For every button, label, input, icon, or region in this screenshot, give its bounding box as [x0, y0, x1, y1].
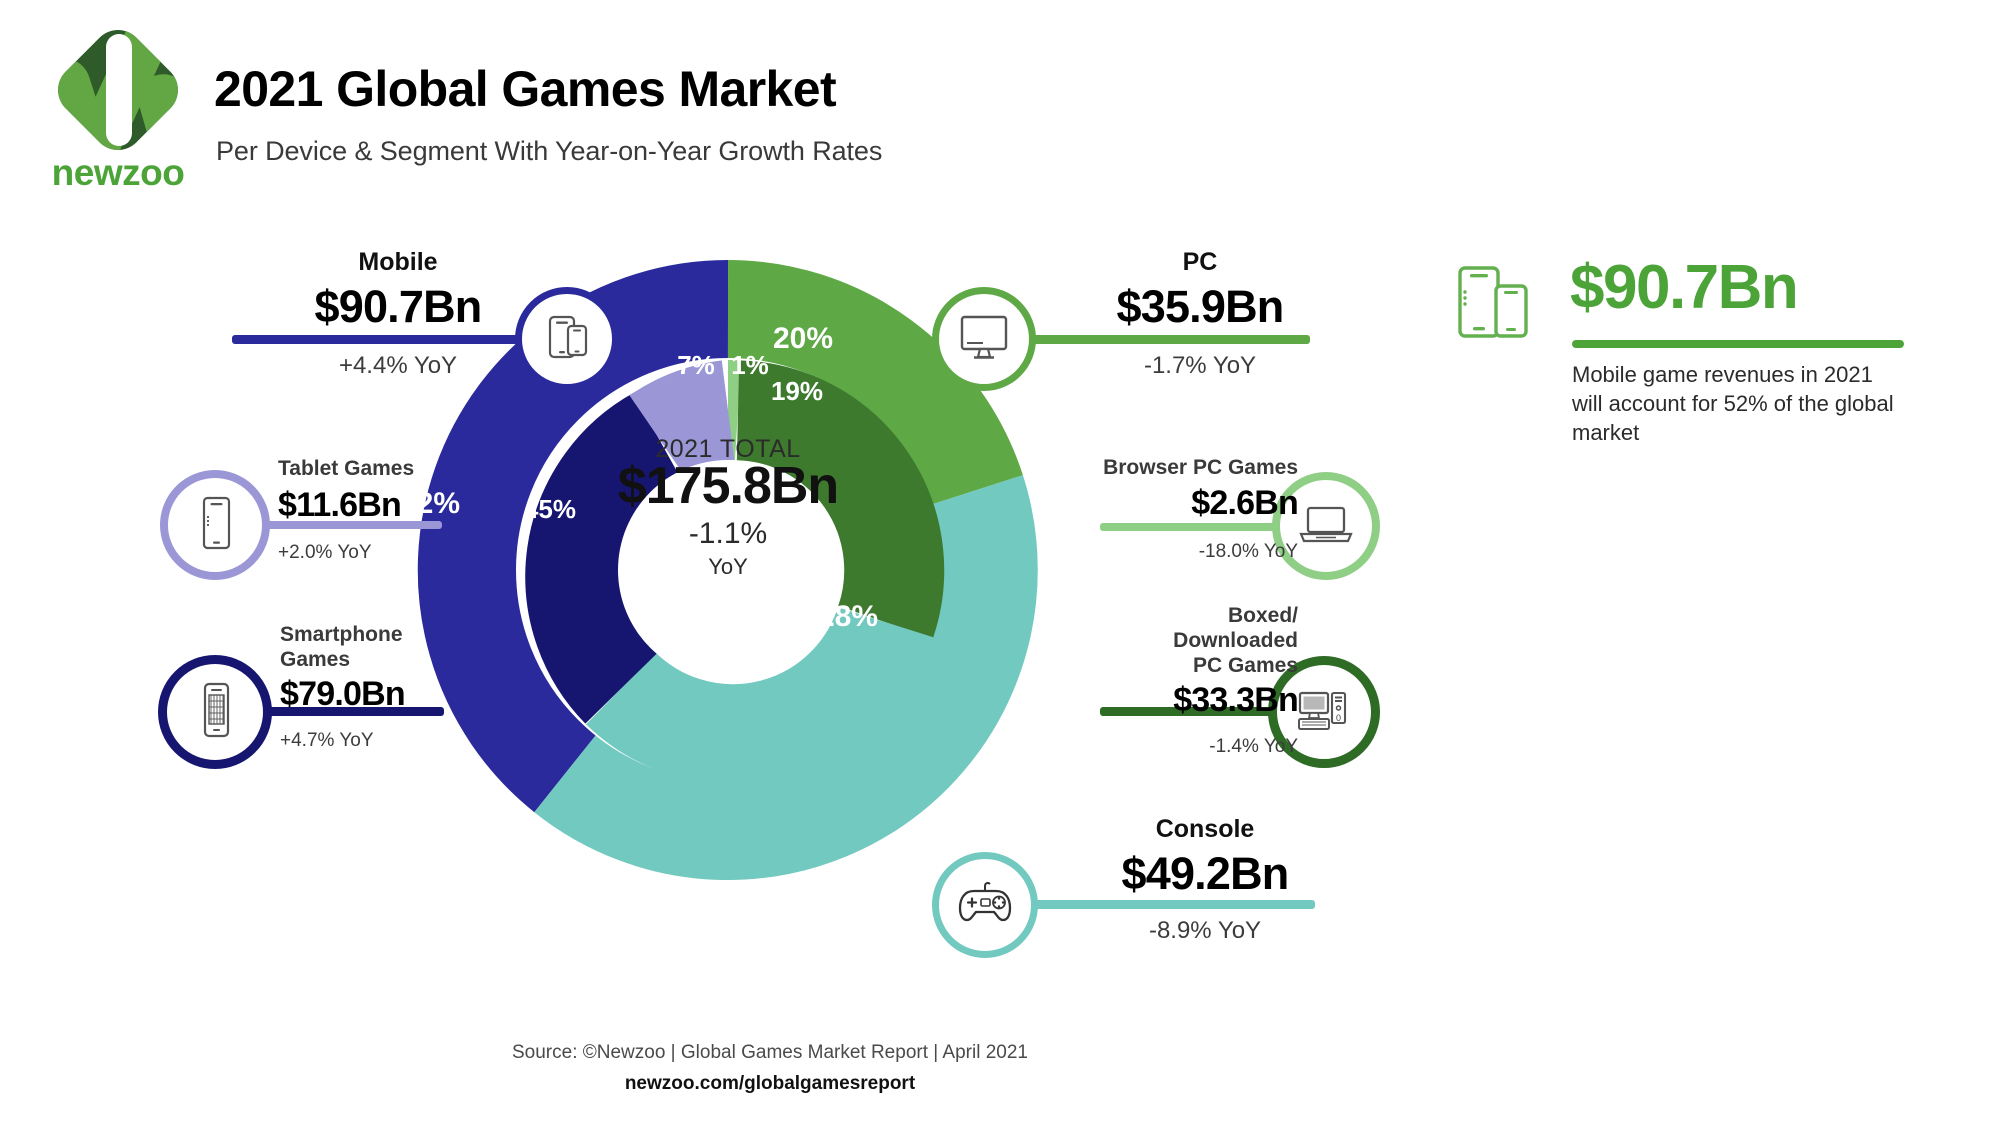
footer-source: Source: ©Newzoo | Global Games Market Re… [0, 1042, 1540, 1064]
callout-console-yoy: -8.9% YoY [1065, 917, 1345, 945]
callout-pc-yoy-wrap: -1.7% YoY [1055, 352, 1345, 380]
callout-smartphone-yoy: +4.7% YoY [280, 730, 520, 752]
callout-pc-title: PC [1055, 248, 1345, 277]
callout-smartphone: Smartphone Games $79.0Bn +4.7% YoY [280, 623, 520, 752]
phone-tablet-icon [539, 309, 595, 370]
tablet-bubble [160, 470, 270, 580]
gamepad-icon [954, 877, 1016, 934]
callout-boxed-value: $33.3Bn [1090, 681, 1298, 720]
center-yoy-suffix: YoY [708, 554, 748, 579]
highlight-rule [1572, 340, 1904, 348]
callout-mobile-title: Mobile [258, 248, 538, 277]
callout-browser-title: Browser PC Games [1098, 456, 1298, 481]
callout-browser-yoy: -18.0% YoY [1098, 541, 1298, 563]
callout-console-value: $49.2Bn [1065, 848, 1345, 900]
smartphone-icon [192, 680, 238, 745]
inner-label-tablet: 7% [677, 350, 715, 380]
callout-mobile-yoy: +4.4% YoY [258, 352, 538, 380]
brand-wordmark: newzoo [48, 154, 188, 191]
inner-label-boxed: 19% [771, 376, 823, 406]
infographic-root: newzoo 2021 Global Games Market Per Devi… [0, 0, 2000, 1124]
pc-bubble [932, 287, 1036, 391]
smartphone-bubble [158, 655, 272, 769]
desktop-monitor-icon [954, 310, 1014, 369]
connector-console [1035, 900, 1315, 909]
inner-label-browser: 1% [731, 350, 769, 380]
center-yoy: -1.1% [689, 517, 767, 550]
callout-tablet: Tablet Games $11.6Bn +2.0% YoY [278, 457, 508, 564]
callout-boxed: Boxed/ Downloaded PC Games $33.3Bn -1.4%… [1090, 604, 1298, 758]
brand-logo: newzoo [48, 28, 188, 200]
center-value: $175.8Bn [618, 457, 838, 515]
newzoo-diamond-logo-icon [56, 28, 180, 152]
callout-tablet-yoy: +2.0% YoY [278, 542, 508, 564]
callout-mobile-value: $90.7Bn [258, 281, 538, 333]
callout-smartphone-value: $79.0Bn [280, 675, 520, 714]
callout-boxed-title: Boxed/ Downloaded PC Games [1090, 604, 1298, 678]
callout-tablet-value: $11.6Bn [278, 486, 508, 525]
callout-console: Console $49.2Bn [1065, 815, 1345, 900]
console-bubble [932, 852, 1038, 958]
callout-mobile: Mobile $90.7Bn [258, 248, 538, 333]
footer: Source: ©Newzoo | Global Games Market Re… [0, 1042, 1540, 1095]
tablet-icon [192, 494, 238, 557]
outer-label-pc: 20% [773, 322, 833, 355]
connector-mobile [232, 335, 542, 344]
outer-label-console: 28% [818, 600, 878, 633]
highlight-text: Mobile game revenues in 2021 will accoun… [1572, 360, 1902, 447]
phone-tablet-icon [1452, 262, 1548, 351]
desktop-tower-icon: 0 [1293, 684, 1355, 741]
page-title: 2021 Global Games Market [214, 60, 836, 118]
inner-label-smartphone: 45% [524, 494, 576, 524]
svg-text:0: 0 [1336, 713, 1341, 723]
callout-browser: Browser PC Games $2.6Bn -18.0% YoY [1098, 456, 1298, 563]
page-subtitle: Per Device & Segment With Year-on-Year G… [216, 136, 882, 167]
laptop-icon [1295, 500, 1357, 553]
callout-console-yoy-wrap: -8.9% YoY [1065, 917, 1345, 945]
callout-browser-value: $2.6Bn [1098, 484, 1298, 523]
footer-url[interactable]: newzoo.com/globalgamesreport [0, 1073, 1540, 1095]
callout-mobile-yoy-wrap: +4.4% YoY [258, 352, 538, 380]
callout-tablet-title: Tablet Games [278, 457, 508, 482]
callout-boxed-yoy: -1.4% YoY [1090, 736, 1298, 758]
callout-smartphone-title: Smartphone Games [280, 623, 520, 673]
callout-pc-yoy: -1.7% YoY [1055, 352, 1345, 380]
callout-pc-value: $35.9Bn [1055, 281, 1345, 333]
callout-console-title: Console [1065, 815, 1345, 844]
callout-pc: PC $35.9Bn [1055, 248, 1345, 333]
highlight-value: $90.7Bn [1570, 252, 1797, 323]
